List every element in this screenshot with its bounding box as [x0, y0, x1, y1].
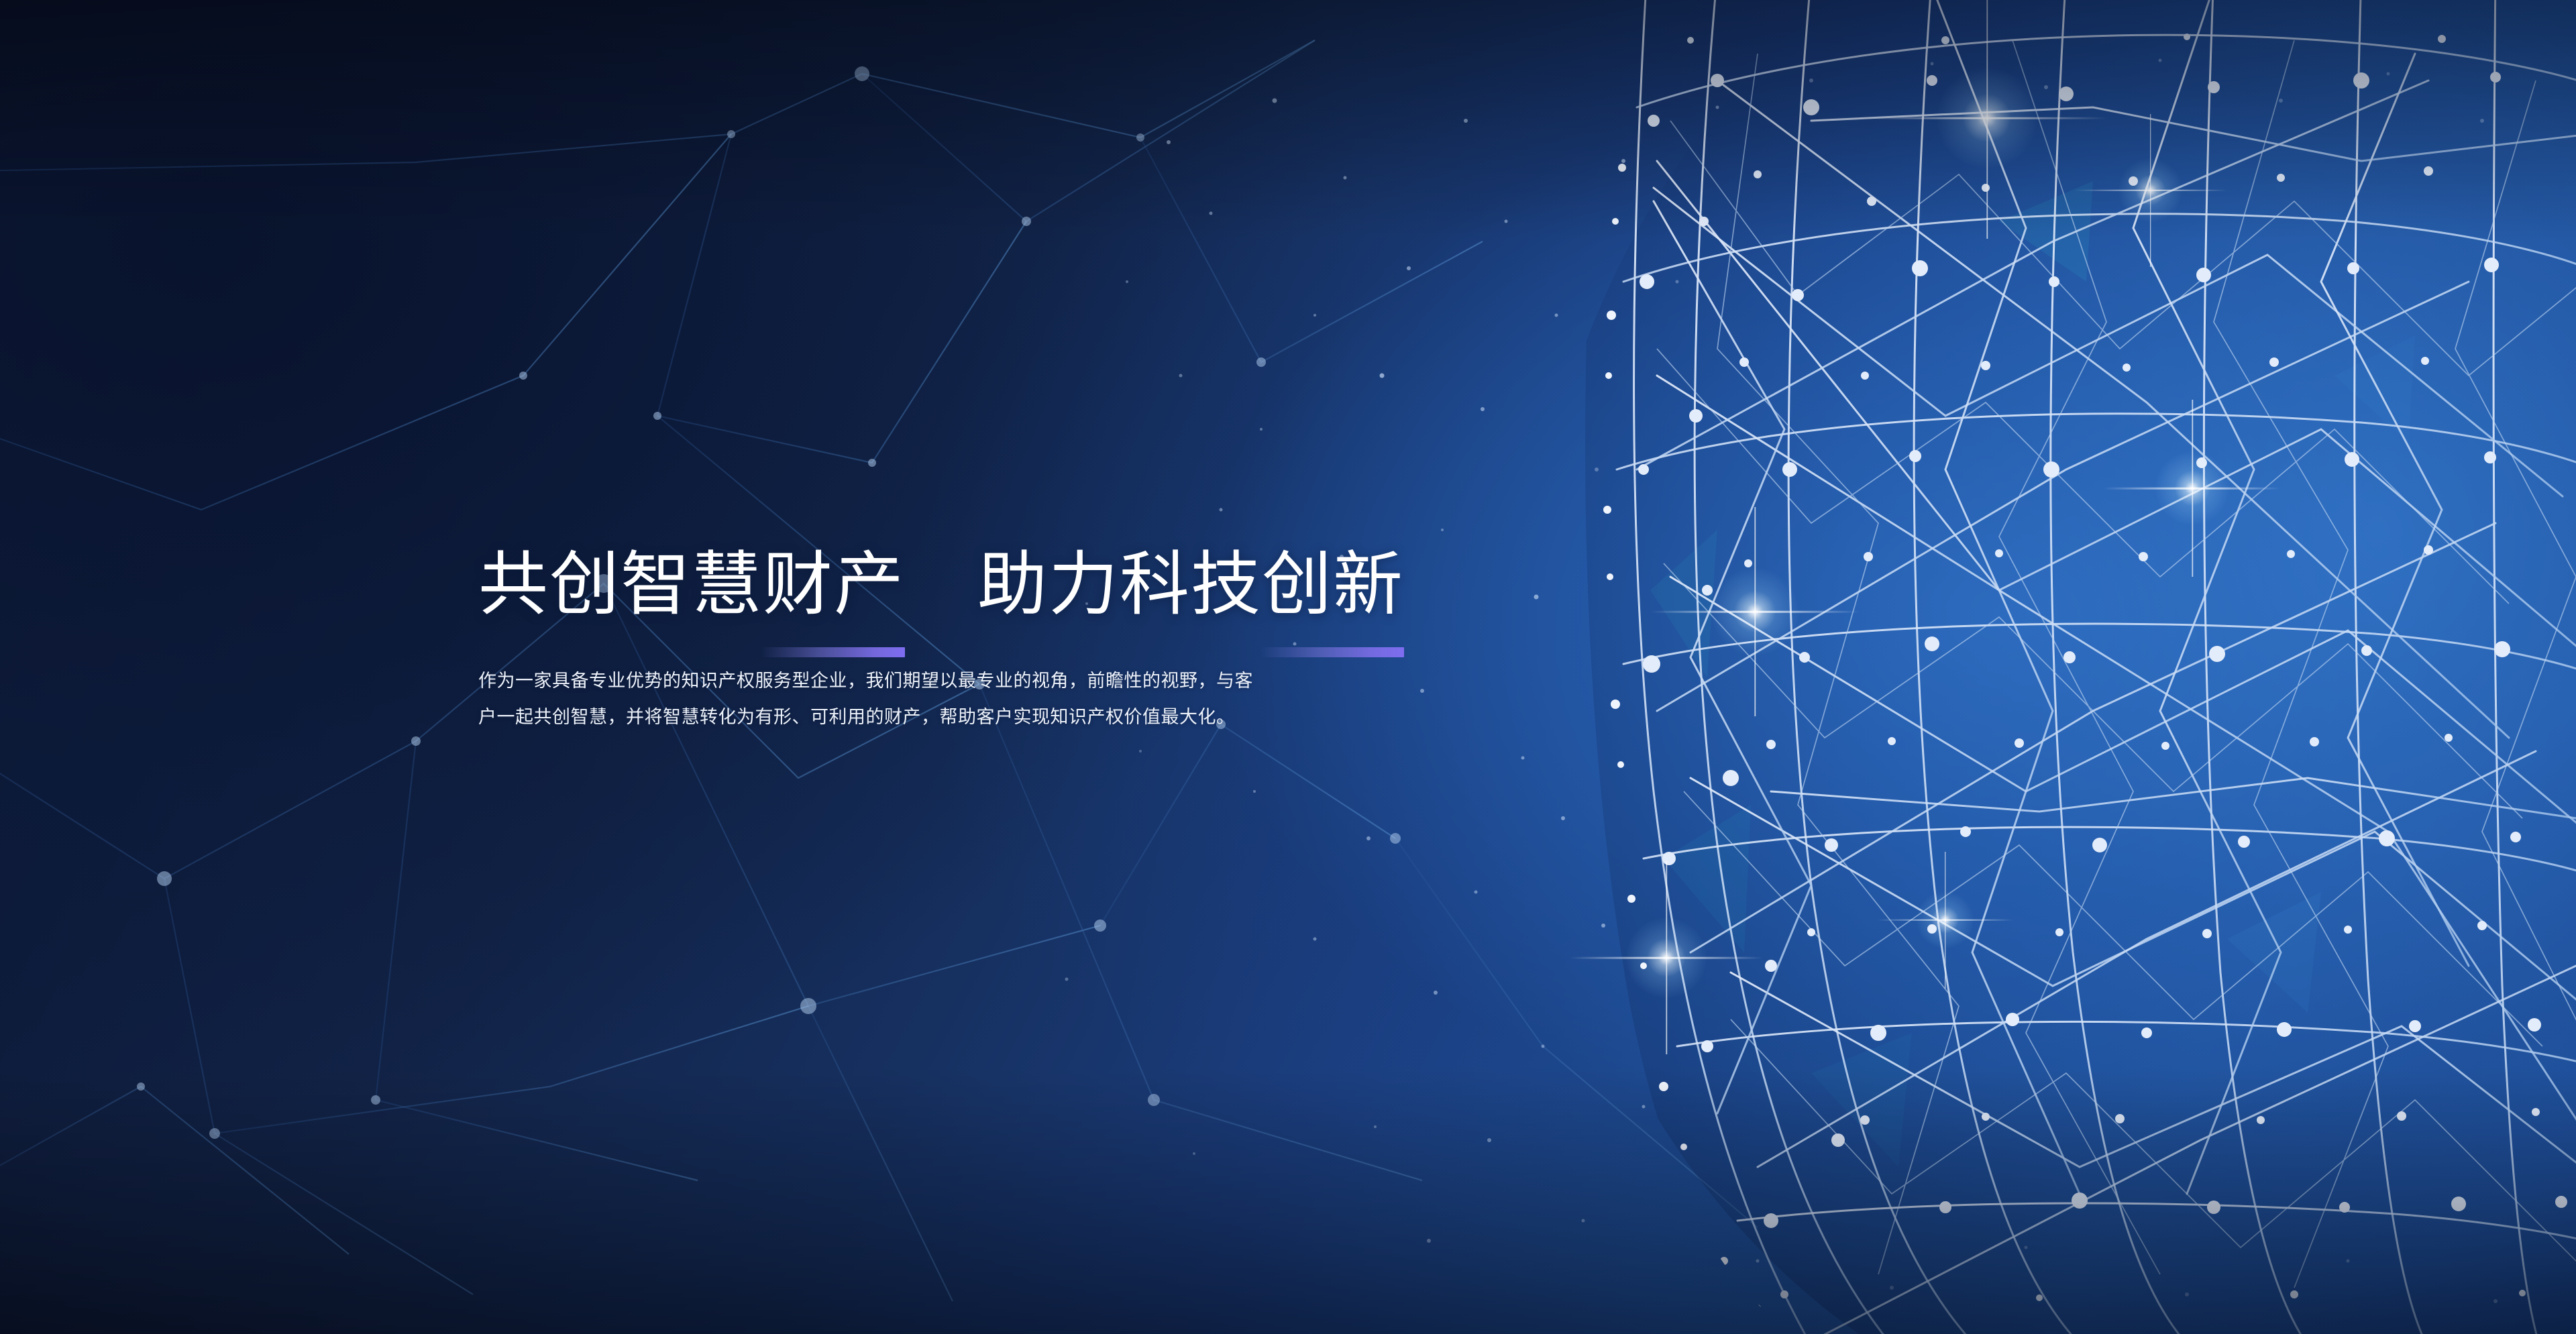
headline-accent-underline-1	[760, 647, 905, 657]
star-flare-lower-left	[1626, 918, 1707, 998]
banner-content: 共创智慧财产 助力科技创新 作为一家具备专业优势的知识产权服务型企业，我们期望以…	[478, 539, 1485, 753]
headline-accent-underline-2	[1259, 647, 1404, 657]
headline-part-1-group: 共创智慧财产	[478, 550, 905, 620]
headline-part-1: 共创智慧财产	[478, 550, 905, 620]
banner-description: 作为一家具备专业优势的知识产权服务型企业，我们期望以最专业的视角，前瞻性的视野，…	[478, 663, 1270, 735]
star-flare-right-edge	[2155, 451, 2229, 525]
star-flare-bottom	[1917, 891, 1974, 948]
banner-root: 共创智慧财产 助力科技创新 作为一家具备专业优势的知识产权服务型企业，我们期望以…	[0, 0, 2576, 1334]
star-flare-far-right	[2118, 158, 2182, 222]
page-title: 共创智慧财产 助力科技创新	[478, 539, 1485, 620]
star-flare-top-right	[1937, 68, 2037, 168]
headline-part-2: 助力科技创新	[977, 550, 1404, 620]
headline-part-2-group: 助力科技创新	[977, 550, 1404, 620]
star-flare-mid-left	[1711, 568, 1799, 655]
